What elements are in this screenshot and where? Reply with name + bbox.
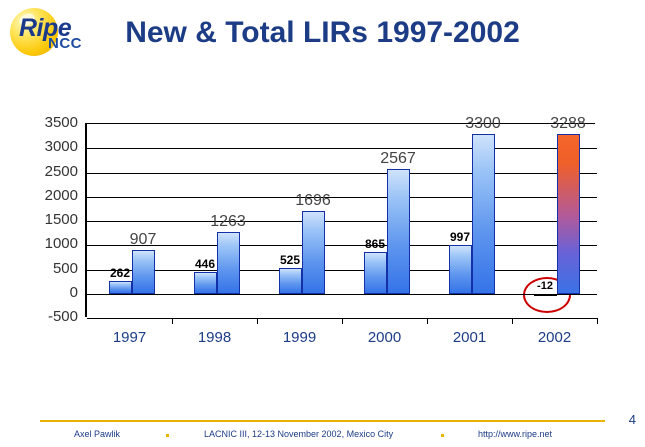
footer-event: LACNIC III, 12-13 November 2002, Mexico … [204,429,393,439]
y-axis-tick-label: 2500 [16,164,78,179]
x-axis-tick-label: 2002 [515,330,595,345]
bar-new-lirs [364,252,387,294]
y-axis-tick-label: 1000 [16,236,78,251]
x-axis-tick [172,318,173,324]
x-axis-tick [597,318,598,324]
footer-author: Axel Pawlik [74,429,120,439]
zero-baseline [87,294,597,295]
bar-total-lirs [217,232,240,293]
bar-total-lirs [557,134,580,293]
y-axis-tick-label: -500 [16,309,78,324]
gridline [87,173,597,174]
gridline [87,148,597,149]
x-axis-tick-label: 1998 [175,330,255,345]
page-number: 4 [629,412,636,427]
x-axis-tick [342,318,343,324]
y-axis-tick-label: 2000 [16,188,78,203]
y-axis-tick-label: 3500 [16,115,78,130]
bar-label-total-lirs: 1696 [285,193,341,209]
footer-url: http://www.ripe.net [478,429,552,439]
footer-divider [40,420,605,422]
gridline [87,197,597,198]
bar-total-lirs [387,169,410,293]
y-axis-tick-label: 0 [16,285,78,300]
x-axis-tick [512,318,513,324]
x-axis-tick [427,318,428,324]
bar-new-lirs [109,281,132,294]
x-axis-tick-label: 1999 [260,330,340,345]
bar-chart: 3500300025002000150010005000-500 2629071… [0,100,645,350]
y-axis-tick-label: 1500 [16,212,78,227]
bar-label-total-lirs: 1263 [200,214,256,230]
bar-label-total-lirs: 3288 [540,116,596,132]
footer-separator-dot-1 [166,434,169,437]
bar-new-lirs [449,245,472,293]
slide-title: New & Total LIRs 1997-2002 [0,16,645,50]
bar-new-lirs [194,272,217,294]
bar-total-lirs [132,250,155,294]
bar-new-lirs [279,268,302,293]
y-axis-tick-label: 500 [16,261,78,276]
footer-separator-dot-2 [441,434,444,437]
bar-label-total-lirs: 907 [115,232,171,248]
plot-area: 2629071997446126319985251696199986525672… [85,123,595,317]
bar-total-lirs [302,211,325,293]
x-axis-tick-label: 1997 [90,330,170,345]
x-axis-tick-label: 2000 [345,330,425,345]
bar-label-total-lirs: 3300 [455,116,511,132]
bar-total-lirs [472,134,495,294]
y-axis-ticks: 3500300025002000150010005000-500 [10,123,78,317]
gridline [87,221,597,222]
x-axis-tick [257,318,258,324]
bar-label-total-lirs: 2567 [370,151,426,167]
gridline [87,270,597,271]
y-axis-tick-label: 3000 [16,139,78,154]
x-axis-tick-label: 2001 [430,330,510,345]
